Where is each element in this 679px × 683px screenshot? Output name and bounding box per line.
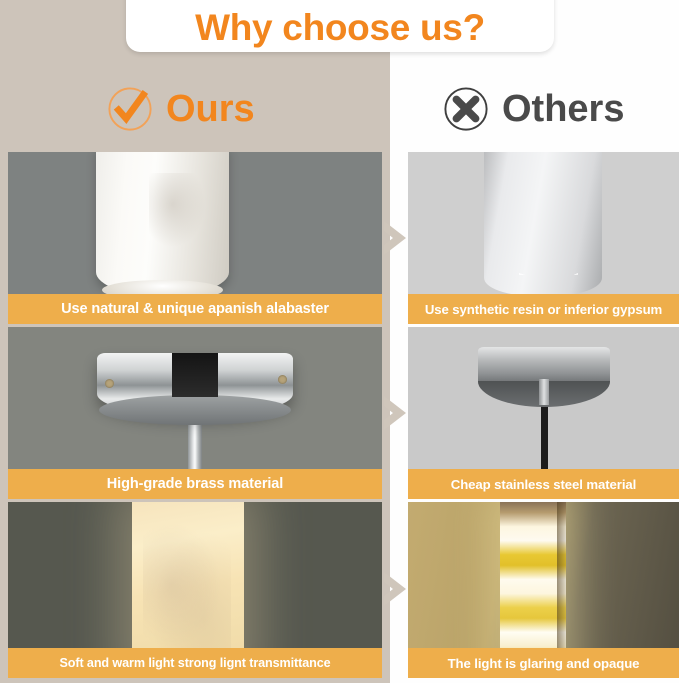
circle-x-icon (443, 86, 489, 132)
others-caption-2: Cheap stainless steel material (408, 469, 679, 499)
ours-caption-3: Soft and warm light strong lignt transmi… (8, 648, 382, 678)
others-card-2: Cheap stainless steel material (408, 327, 679, 499)
chevron-right-icon (380, 215, 412, 261)
comparison-infographic: Why choose us? Ours Others Use natural &… (0, 0, 679, 683)
ours-card-1: Use natural & unique apanish alabaster (8, 152, 382, 324)
title-banner: Why choose us? (126, 0, 554, 52)
others-card-1: Use synthetic resin or inferior gypsum (408, 152, 679, 324)
ours-card-2: High-grade brass material (8, 327, 382, 499)
ours-caption-1: Use natural & unique apanish alabaster (8, 294, 382, 324)
others-caption-1: Use synthetic resin or inferior gypsum (408, 294, 679, 324)
circle-check-icon (107, 86, 153, 132)
page-title: Why choose us? (195, 9, 485, 46)
chevron-right-icon (380, 390, 412, 436)
ours-card-3: Soft and warm light strong lignt transmi… (8, 502, 382, 678)
others-label: Others (502, 90, 624, 128)
others-caption-3: The light is glaring and opaque (408, 648, 679, 678)
others-card-3: The light is glaring and opaque (408, 502, 679, 678)
others-header: Others (443, 86, 624, 132)
ours-label: Ours (166, 90, 255, 128)
chevron-right-icon (380, 566, 412, 612)
ours-header: Ours (107, 86, 255, 132)
ours-caption-2: High-grade brass material (8, 469, 382, 499)
